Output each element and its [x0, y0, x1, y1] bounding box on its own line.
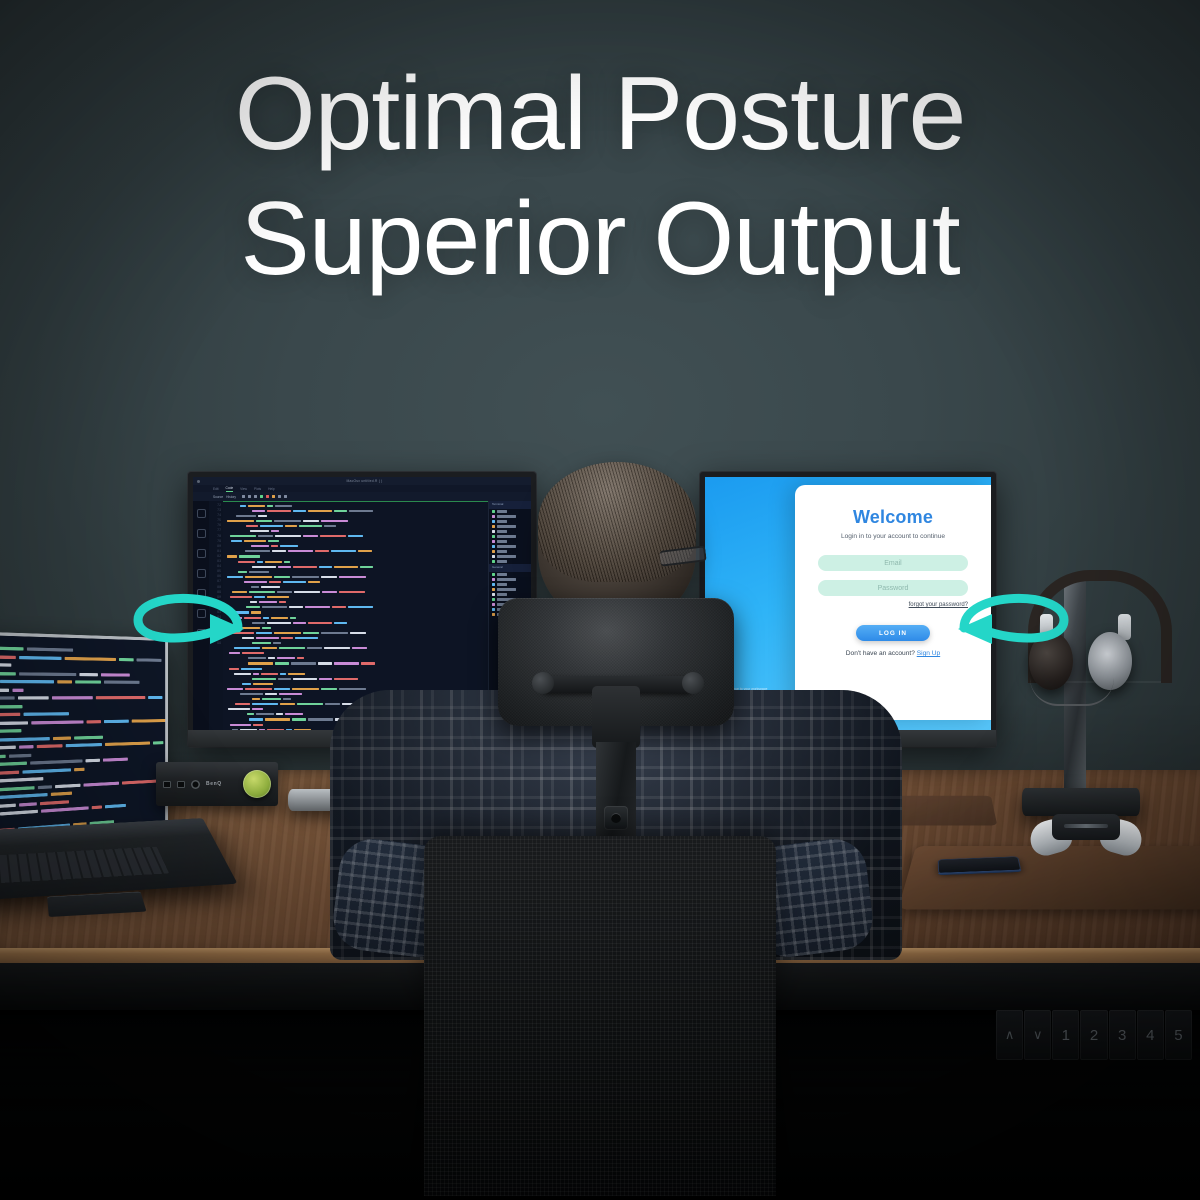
status-dot-icon — [492, 613, 495, 616]
code-token — [37, 745, 63, 749]
email-field[interactable]: Email — [818, 555, 968, 571]
code-token — [250, 530, 269, 532]
code-token — [148, 696, 162, 699]
login-subtitle: Login in to your account to continue — [841, 533, 945, 540]
code-token — [339, 576, 366, 578]
code-line — [0, 686, 166, 695]
code-token — [279, 601, 286, 603]
code-token — [278, 566, 291, 568]
code-token — [292, 688, 319, 690]
headline-line-1: Optimal Posture — [0, 52, 1200, 177]
side-panel-rows-general — [489, 509, 531, 564]
status-dot-icon — [492, 555, 495, 558]
code-token — [331, 550, 356, 552]
keypad-key-down[interactable]: ∨ — [1024, 1010, 1051, 1060]
code-token — [0, 737, 50, 741]
code-token — [40, 800, 69, 805]
laptop-side-row — [167, 686, 168, 694]
code-token — [288, 550, 313, 552]
code-token — [271, 545, 278, 547]
code-token — [269, 581, 281, 583]
volume-knob[interactable] — [243, 770, 271, 798]
code-token — [319, 566, 332, 568]
code-token — [251, 545, 269, 547]
code-token — [227, 576, 243, 578]
code-token — [234, 673, 251, 675]
code-token — [262, 647, 277, 649]
rotate-arrow-right — [950, 584, 1076, 662]
code-token — [334, 510, 347, 512]
code-token — [227, 555, 237, 557]
code-token — [273, 642, 281, 644]
side-panel-label — [497, 550, 507, 552]
code-token — [293, 510, 306, 512]
keypad-key-3[interactable]: 3 — [1109, 1010, 1136, 1060]
code-token — [321, 632, 348, 634]
code-token — [325, 703, 340, 705]
side-panel-label — [497, 573, 507, 575]
code-token — [297, 657, 304, 659]
code-token — [308, 581, 320, 583]
login-button[interactable]: LOG IN — [856, 625, 930, 641]
code-token — [238, 571, 247, 573]
laptop-side-row — [167, 678, 168, 686]
status-dot-icon — [492, 515, 495, 518]
code-token — [308, 718, 333, 720]
code-token — [288, 673, 305, 675]
code-token — [256, 632, 272, 634]
code-token — [19, 802, 37, 806]
code-token — [227, 520, 254, 522]
code-token — [262, 627, 271, 629]
number-keypad[interactable]: ∧ ∨ 1 2 3 4 5 — [996, 1010, 1192, 1060]
code-token — [293, 566, 317, 568]
code-token — [0, 762, 27, 767]
code-token — [84, 782, 119, 787]
ide-toolbar-source[interactable]: Source — [213, 495, 223, 499]
status-dot-icon — [492, 603, 495, 606]
code-token — [258, 535, 273, 537]
code-token — [303, 632, 319, 634]
code-token — [254, 596, 265, 598]
code-token — [267, 622, 291, 624]
code-token — [74, 736, 103, 739]
code-token — [227, 688, 243, 690]
code-token — [249, 718, 263, 720]
code-token — [285, 525, 297, 527]
code-token — [27, 648, 73, 652]
laptop-side-row — [167, 693, 168, 701]
code-token — [19, 656, 61, 660]
code-token — [339, 688, 366, 690]
code-token — [19, 672, 76, 675]
code-token — [283, 698, 291, 700]
code-token — [267, 596, 289, 598]
code-token — [104, 720, 129, 723]
code-token — [0, 672, 16, 675]
code-token — [280, 673, 286, 675]
code-token — [278, 678, 291, 680]
status-dot-icon — [492, 593, 495, 596]
code-token — [257, 561, 263, 563]
side-panel-label — [497, 545, 516, 547]
ide-icon-copy[interactable] — [254, 495, 257, 498]
code-token — [324, 525, 336, 527]
status-dot-icon — [492, 588, 495, 591]
code-token — [267, 505, 273, 507]
headphone-jack-icon — [191, 780, 200, 789]
code-token — [240, 505, 246, 507]
poster-canvas: Optimal Posture Superior Output MacOsx u… — [0, 0, 1200, 1200]
keypad-key-2[interactable]: 2 — [1080, 1010, 1107, 1060]
code-token — [0, 778, 43, 783]
code-token — [251, 586, 259, 588]
headrest-stem — [592, 686, 640, 748]
code-token — [319, 678, 332, 680]
code-token — [349, 510, 373, 512]
code-token — [236, 515, 256, 517]
ide-menu-tabs[interactable]: Edit Code View Plots Help — [193, 485, 531, 492]
code-token — [0, 663, 11, 666]
code-token — [55, 784, 80, 788]
laptop-side-row — [167, 730, 168, 739]
forgot-password-link[interactable]: forgot your password? — [818, 602, 968, 608]
debug-icon[interactable] — [197, 549, 206, 558]
code-token — [350, 632, 366, 634]
side-panel-header-terminal: Terminal — [489, 501, 531, 509]
status-dot-icon — [492, 545, 495, 548]
code-token — [293, 678, 317, 680]
code-token — [277, 657, 295, 659]
code-token — [244, 581, 267, 583]
code-token — [321, 576, 337, 578]
signup-prompt: Don't have an account? — [846, 650, 915, 657]
code-token — [267, 510, 291, 512]
code-token — [274, 520, 301, 522]
login-title: Welcome — [853, 507, 933, 528]
code-token — [252, 642, 271, 644]
ide-titlebar: MacOsx untitled.R ( ) — [193, 477, 531, 485]
password-field[interactable]: Password — [818, 580, 968, 596]
code-token — [244, 540, 266, 542]
headrest-knob-right[interactable] — [682, 672, 704, 694]
code-token — [272, 550, 286, 552]
ide-tab-help[interactable]: Help — [268, 487, 275, 492]
code-token — [305, 606, 330, 608]
code-token — [334, 566, 358, 568]
code-token — [297, 703, 323, 705]
code-token — [0, 655, 16, 658]
laptop-side-row — [167, 737, 168, 746]
status-dot-icon — [492, 530, 495, 533]
code-token — [246, 525, 258, 527]
laptop-side-row — [167, 744, 168, 753]
code-token — [271, 530, 279, 532]
code-token — [252, 510, 265, 512]
code-token — [30, 760, 82, 765]
code-token — [318, 662, 332, 664]
chair-adjust-button[interactable] — [604, 806, 628, 830]
code-token — [260, 525, 283, 527]
code-token — [0, 721, 28, 725]
code-token — [86, 759, 100, 762]
code-token — [315, 550, 329, 552]
code-token — [256, 713, 274, 715]
headrest-knob-left[interactable] — [532, 672, 554, 694]
code-token — [242, 683, 251, 685]
code-token — [261, 586, 280, 588]
code-token — [229, 668, 239, 670]
code-token — [265, 718, 290, 720]
code-token — [87, 720, 101, 723]
code-token — [228, 708, 250, 710]
side-panel-label — [497, 540, 507, 542]
code-token — [241, 668, 262, 670]
ide-tab-view[interactable]: View — [240, 487, 247, 492]
code-token — [0, 771, 19, 776]
status-dot-icon — [492, 525, 495, 528]
code-token — [22, 768, 71, 773]
ide-toolbar-history[interactable]: History — [226, 495, 236, 499]
code-token — [274, 576, 290, 578]
laptop-side-row — [167, 708, 168, 716]
side-panel-label — [497, 588, 516, 590]
code-token — [249, 571, 269, 573]
code-token — [230, 535, 256, 537]
side-panel-header-general: General — [489, 564, 531, 572]
code-token — [322, 591, 337, 593]
code-token — [235, 703, 250, 705]
code-token — [274, 688, 290, 690]
code-token — [339, 591, 365, 593]
code-token — [24, 713, 69, 716]
usb-port-icon-2 — [177, 781, 185, 788]
files-icon[interactable] — [197, 509, 206, 518]
code-token — [291, 662, 316, 664]
code-token — [256, 637, 279, 639]
side-panel-label — [497, 525, 516, 527]
code-token — [271, 617, 288, 619]
status-dot-icon — [492, 583, 495, 586]
code-token — [252, 698, 260, 700]
ide-window-title: MacOsx untitled.R ( ) — [346, 479, 382, 483]
code-token — [324, 647, 350, 649]
status-dot-icon — [492, 598, 495, 601]
status-dot-icon — [492, 550, 495, 553]
code-token — [101, 673, 130, 676]
code-token — [103, 758, 128, 762]
code-token — [0, 713, 20, 716]
code-token — [252, 708, 263, 710]
laptop-side-row — [167, 723, 168, 731]
keypad-key-up[interactable]: ∧ — [996, 1010, 1023, 1060]
code-token — [251, 611, 261, 613]
keypad-key-4[interactable]: 4 — [1137, 1010, 1164, 1060]
ide-icon-stop[interactable] — [266, 495, 269, 498]
side-panel-label — [497, 535, 516, 537]
code-token — [252, 703, 278, 705]
code-token — [307, 647, 322, 649]
ide-tab-code[interactable]: Code — [226, 486, 234, 492]
code-token — [132, 719, 166, 722]
code-token — [275, 505, 292, 507]
code-token — [281, 637, 293, 639]
usb-port-icon — [163, 781, 171, 788]
code-token — [248, 662, 273, 664]
branch-icon[interactable] — [197, 529, 206, 538]
code-token — [238, 561, 255, 563]
status-dot-icon — [492, 520, 495, 523]
code-token — [285, 713, 303, 715]
smartphone[interactable] — [938, 856, 1022, 874]
ide-tab-plots[interactable]: Plots — [254, 487, 261, 492]
code-token — [51, 792, 72, 796]
code-token — [284, 561, 290, 563]
headline-line-2: Superior Output — [0, 177, 1200, 302]
code-token — [293, 622, 306, 624]
code-token — [79, 673, 97, 676]
code-token — [358, 550, 372, 552]
keypad-key-5[interactable]: 5 — [1165, 1010, 1192, 1060]
code-token — [38, 785, 52, 789]
dock-brand-label: BenQ — [206, 781, 222, 787]
code-token — [252, 566, 276, 568]
ide-icon-run[interactable] — [260, 495, 263, 498]
code-token — [92, 806, 102, 809]
side-panel-label — [497, 510, 507, 512]
code-token — [283, 581, 306, 583]
audio-dock[interactable]: BenQ — [156, 762, 278, 806]
code-token — [0, 755, 6, 760]
rotate-arrow-left — [126, 584, 252, 662]
code-token — [265, 561, 282, 563]
code-token — [0, 746, 16, 751]
code-token — [153, 742, 163, 745]
code-token — [303, 535, 318, 537]
side-panel-label — [497, 520, 507, 522]
code-token — [240, 693, 263, 695]
code-token — [53, 736, 71, 739]
code-token — [253, 683, 273, 685]
code-token — [245, 688, 272, 690]
side-panel-label — [497, 578, 516, 580]
package-icon[interactable] — [197, 569, 206, 578]
code-token — [361, 662, 375, 664]
code-token — [263, 617, 269, 619]
page-title: Optimal Posture Superior Output — [0, 52, 1200, 302]
code-token — [320, 535, 346, 537]
chair-mesh-back[interactable] — [424, 836, 776, 1196]
code-token — [292, 576, 319, 578]
code-token — [0, 730, 21, 734]
keypad-key-1[interactable]: 1 — [1052, 1010, 1079, 1060]
code-token — [253, 724, 263, 726]
code-token — [352, 647, 367, 649]
code-token — [52, 697, 93, 700]
code-token — [245, 550, 270, 552]
side-panel-label — [497, 583, 507, 585]
code-token — [239, 555, 260, 557]
signup-link[interactable]: Sign Up — [917, 650, 940, 657]
code-token — [280, 545, 298, 547]
code-token — [230, 724, 251, 726]
code-token — [105, 804, 126, 808]
code-token — [0, 810, 38, 815]
ide-icon-search[interactable] — [248, 495, 251, 498]
code-token — [274, 632, 301, 634]
code-token — [262, 698, 281, 700]
signup-row: Don't have an account? Sign Up — [846, 650, 940, 657]
laptop-side-row — [167, 715, 168, 723]
ide-tab-edit[interactable]: Edit — [213, 487, 219, 492]
side-panel-label — [497, 530, 507, 532]
code-token — [256, 520, 272, 522]
code-token — [289, 606, 303, 608]
side-panel-label — [497, 560, 507, 562]
code-token — [75, 681, 101, 684]
code-token — [277, 591, 292, 593]
controller-lightbar — [1064, 824, 1108, 828]
code-token — [0, 697, 15, 700]
code-token — [249, 591, 275, 593]
code-token — [0, 647, 24, 651]
code-token — [268, 540, 279, 542]
code-token — [258, 515, 267, 517]
code-token — [348, 535, 363, 537]
ide-icon-warn[interactable] — [272, 495, 275, 498]
code-token — [74, 768, 84, 771]
code-token — [280, 703, 295, 705]
code-token — [104, 681, 140, 684]
code-token — [299, 525, 322, 527]
code-token — [245, 576, 272, 578]
laptop-side-row — [167, 663, 168, 671]
status-dot-icon — [492, 560, 495, 563]
status-dot-icon — [492, 510, 495, 513]
code-token — [96, 697, 145, 700]
code-token — [66, 743, 102, 747]
ide-icon-format[interactable] — [278, 495, 281, 498]
status-dot-icon — [492, 608, 495, 611]
code-token — [252, 622, 265, 624]
code-token — [334, 678, 358, 680]
code-token — [0, 688, 9, 691]
code-token — [19, 746, 33, 749]
ide-icon-save[interactable] — [242, 495, 245, 498]
code-token — [268, 657, 275, 659]
code-token — [275, 535, 301, 537]
code-token — [248, 505, 265, 507]
code-token — [0, 705, 22, 708]
laptop-side-row — [167, 671, 168, 679]
code-token — [279, 693, 302, 695]
code-token — [31, 720, 83, 724]
side-panel-label — [497, 515, 516, 517]
side-panel-label — [497, 555, 516, 557]
code-token — [265, 693, 277, 695]
code-token — [57, 681, 72, 684]
code-token — [105, 742, 150, 746]
code-token — [290, 617, 296, 619]
code-token — [247, 713, 254, 715]
code-token — [279, 647, 305, 649]
code-token — [303, 520, 319, 522]
code-token — [18, 697, 49, 700]
ide-icon-more[interactable] — [284, 495, 287, 498]
code-token — [348, 606, 373, 608]
status-dot-icon — [492, 535, 495, 538]
game-controller[interactable] — [1030, 810, 1142, 856]
